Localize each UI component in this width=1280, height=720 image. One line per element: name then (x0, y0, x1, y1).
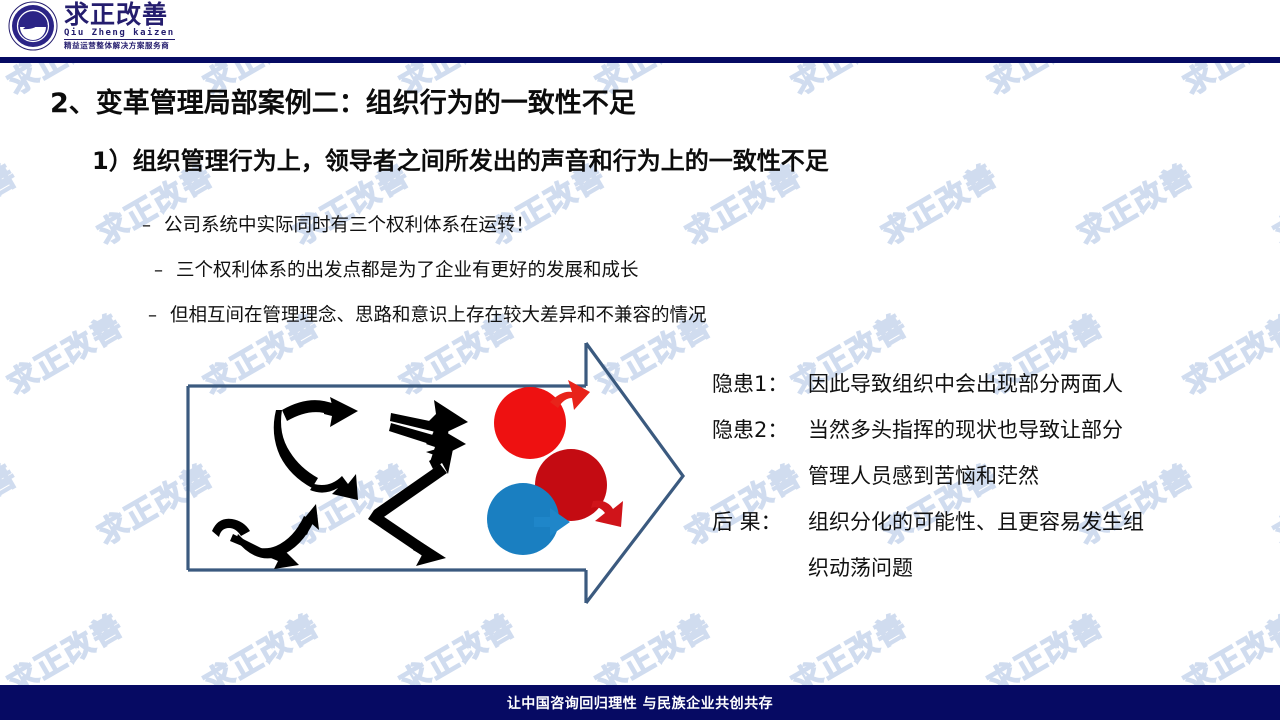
list-item: – 但相互间在管理理念、思路和意识上存在较大差异和不兼容的情况 (148, 301, 707, 327)
chevron-process-diagram (178, 338, 698, 608)
outcome-text: 因此导致组织中会出现部分两面人 (808, 368, 1123, 398)
list-item-label: 但相互间在管理理念、思路和意识上存在较大差异和不兼容的情况 (170, 301, 707, 327)
outcome-text-block: 隐患1： 因此导致组织中会出现部分两面人 隐患2： 当然多头指挥的现状也导致让部… (712, 368, 1252, 598)
brand-name-pinyin: Qiu Zheng kaizen (64, 29, 175, 40)
slide-footer: 让中国咨询回归理性 与民族企业共创共存 (0, 685, 1280, 720)
outcome-item-3-continued: 后 果： 织动荡问题 (712, 552, 1252, 582)
scribble-arrow-bottom-left (212, 519, 250, 537)
outcome-text: 当然多头指挥的现状也导致让部分 (808, 414, 1123, 444)
scribble-arrow-rising (236, 516, 314, 558)
slide-title: 2、变革管理局部案例二：组织行为的一致性不足 (50, 81, 636, 120)
list-item: – 公司系统中实际同时有三个权利体系在运转！ (142, 211, 707, 237)
scribble-arrow-hook-stem (274, 410, 318, 488)
scribble-arrow-v-up (374, 464, 447, 519)
outcome-label: 隐患2： (712, 414, 808, 444)
scribble-arrow-group (212, 397, 468, 569)
qiuzheng-circle-logo-icon (8, 1, 58, 51)
outcome-item-1: 隐患1： 因此导致组织中会出现部分两面人 (712, 368, 1252, 398)
brand-wordmark: 求正改善 Qiu Zheng kaizen 精益运营整体解决方案服务商 (64, 2, 175, 50)
list-item: – 三个权利体系的出发点都是为了企业有更好的发展和成长 (154, 256, 707, 282)
outcome-text: 织动荡问题 (808, 552, 913, 582)
bullet-list: – 公司系统中实际同时有三个权利体系在运转！ – 三个权利体系的出发点都是为了企… (142, 211, 707, 346)
scribble-arrow-v-down-head (413, 540, 446, 566)
list-item-label: 公司系统中实际同时有三个权利体系在运转！ (164, 211, 534, 237)
outcome-item-2: 隐患2： 当然多头指挥的现状也导致让部分 (712, 414, 1252, 444)
brand-name-cn: 求正改善 (64, 2, 175, 27)
brand-tagline: 精益运营整体解决方案服务商 (64, 42, 175, 50)
scribble-arrow-hook-up-head (324, 397, 358, 427)
header-divider-bar (0, 57, 1280, 63)
slide-subtitle: 1）组织管理行为上，领导者之间所发出的声音和行为上的一致性不足 (92, 141, 829, 176)
outcome-text: 组织分化的可能性、且更容易发生组 (808, 506, 1144, 536)
bullet-dash-icon: – (154, 260, 176, 281)
diagram-canvas (178, 338, 698, 608)
footer-slogan: 让中国咨询回归理性 与民族企业共创共存 (507, 693, 773, 713)
outcome-text: 管理人员感到苦恼和茫然 (808, 460, 1039, 490)
dark-red-circle-arrow-down-right-icon (591, 501, 623, 527)
outcome-item-3: 后 果： 组织分化的可能性、且更容易发生组 (712, 506, 1252, 536)
brand-logo: 求正改善 Qiu Zheng kaizen 精益运营整体解决方案服务商 (8, 1, 175, 51)
bullet-dash-icon: – (142, 215, 164, 236)
outcome-label: 隐患1： (712, 368, 808, 398)
outcome-item-2-continued: 隐患2： 管理人员感到苦恼和茫然 (712, 460, 1252, 490)
slide-body: 2、变革管理局部案例二：组织行为的一致性不足 1）组织管理行为上，领导者之间所发… (0, 63, 1280, 685)
outcome-label: 后 果： (712, 506, 808, 536)
bullet-dash-icon: – (148, 305, 170, 326)
list-item-label: 三个权利体系的出发点都是为了企业有更好的发展和成长 (176, 256, 639, 282)
slide-header: 求正改善 Qiu Zheng kaizen 精益运营整体解决方案服务商 (0, 0, 1280, 57)
